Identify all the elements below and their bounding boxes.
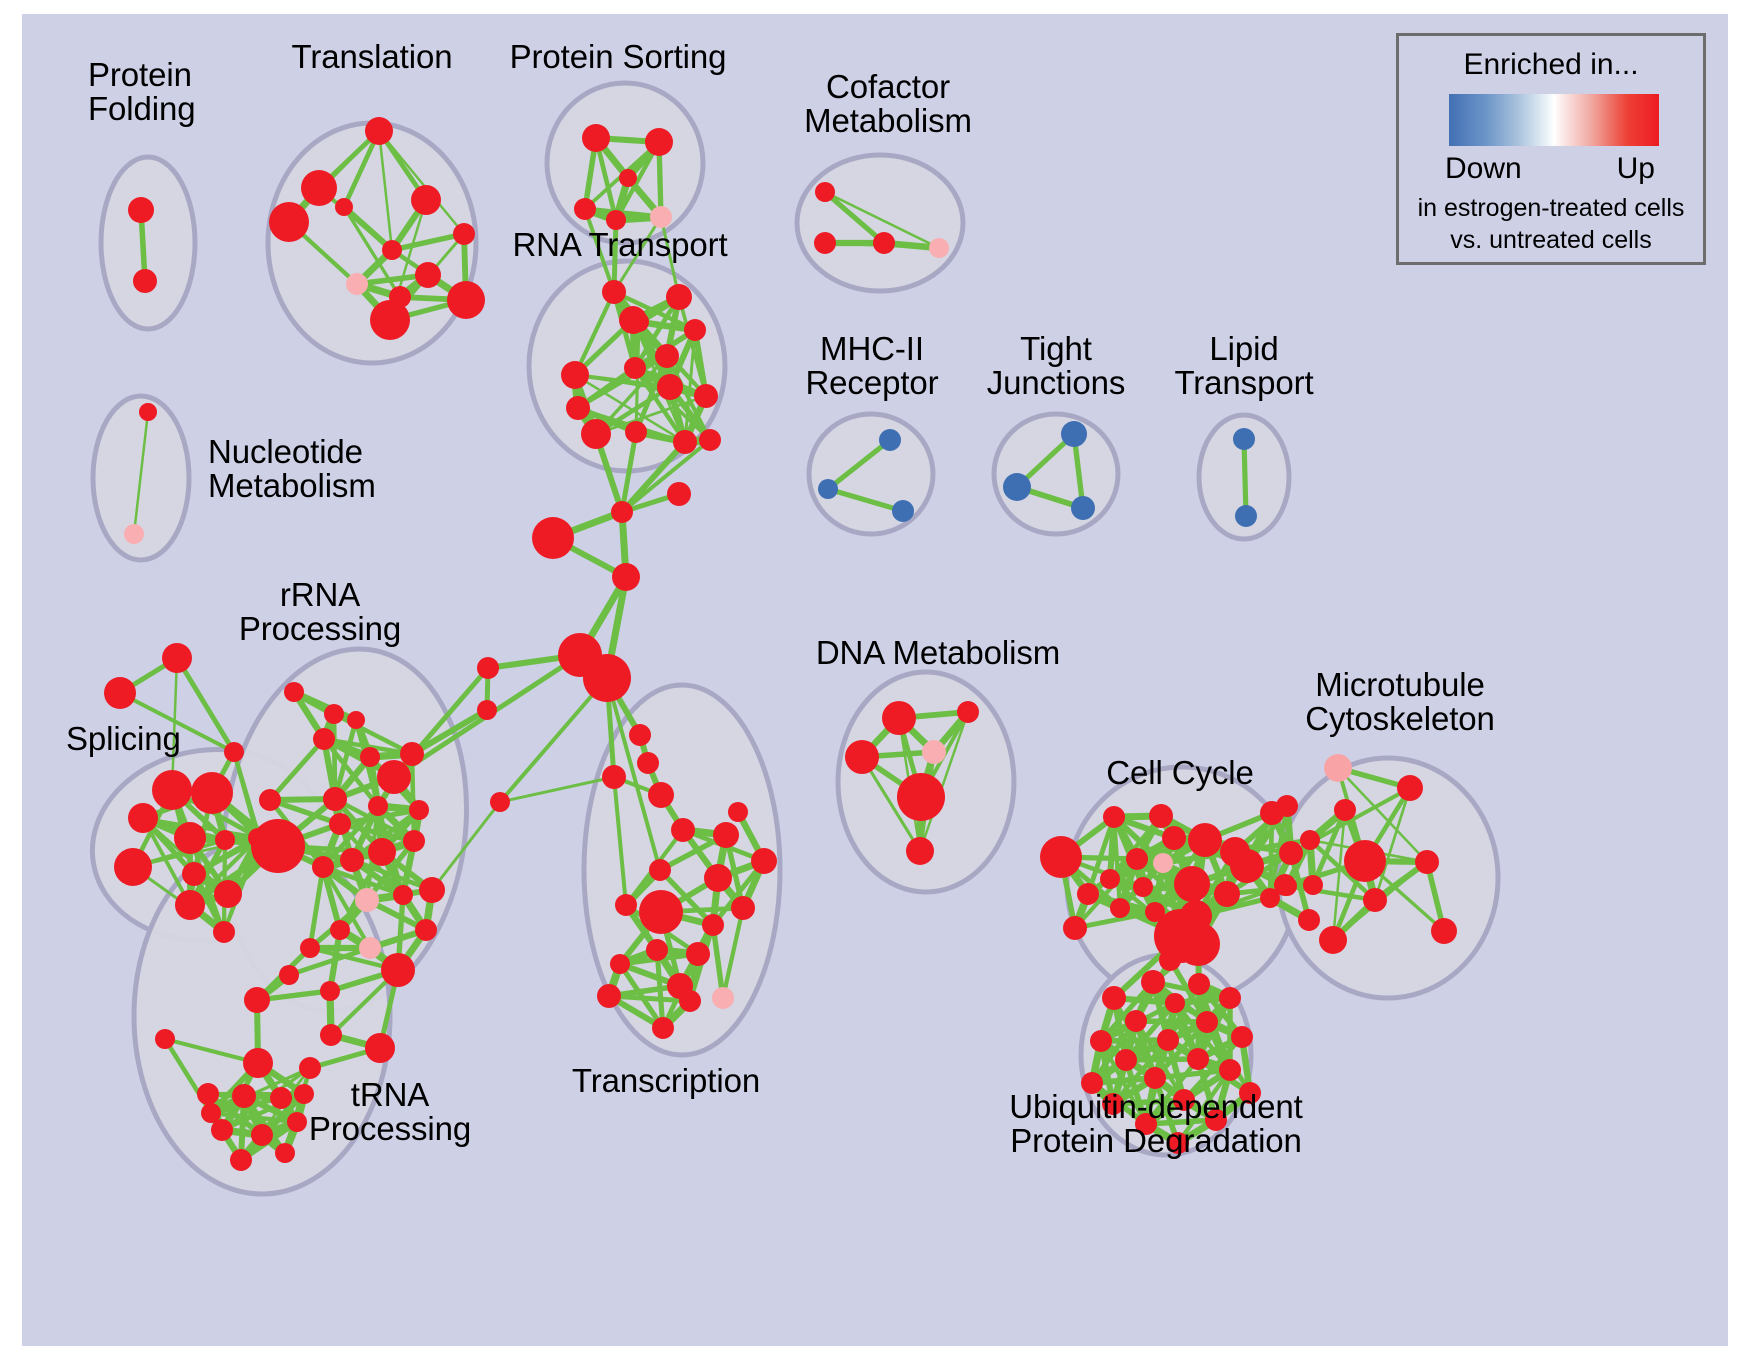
network-node[interactable] xyxy=(1196,1011,1218,1033)
network-edge xyxy=(1244,439,1246,516)
network-node[interactable] xyxy=(655,344,679,368)
network-node[interactable] xyxy=(347,711,365,729)
cluster-label-lipid-transport: LipidTransport xyxy=(1174,332,1313,400)
network-node[interactable] xyxy=(671,818,695,842)
network-node[interactable] xyxy=(162,643,192,673)
network-node[interactable] xyxy=(340,848,364,872)
network-node[interactable] xyxy=(330,920,350,940)
cluster-label-line: Junctions xyxy=(987,366,1126,400)
network-node[interactable] xyxy=(312,856,334,878)
network-node[interactable] xyxy=(191,772,233,814)
network-node[interactable] xyxy=(1110,898,1130,918)
cluster-label-line: RNA Transport xyxy=(512,228,727,262)
network-node[interactable] xyxy=(1324,754,1352,782)
legend-colorbar xyxy=(1449,94,1659,146)
cluster-label-cell-cycle: Cell Cycle xyxy=(1106,756,1254,790)
legend-caption-line1: in estrogen-treated cells xyxy=(1399,194,1703,223)
network-node[interactable] xyxy=(532,517,574,559)
network-node[interactable] xyxy=(731,896,755,920)
cluster-label-line: Protein xyxy=(88,58,196,92)
cluster-hull-protein-folding xyxy=(101,157,195,329)
network-node[interactable] xyxy=(324,704,344,724)
cluster-label-line: Processing xyxy=(239,612,401,646)
network-node[interactable] xyxy=(581,419,611,449)
network-node[interactable] xyxy=(1102,986,1126,1010)
network-node[interactable] xyxy=(377,760,411,794)
network-node[interactable] xyxy=(360,747,380,767)
network-node[interactable] xyxy=(251,819,305,873)
network-node[interactable] xyxy=(657,374,683,400)
cluster-label-line: Metabolism xyxy=(208,469,376,503)
legend-caption-line2: vs. untreated cells xyxy=(1399,226,1703,255)
network-node[interactable] xyxy=(1219,987,1241,1009)
network-node[interactable] xyxy=(873,232,895,254)
cluster-label-line: MHC-II xyxy=(805,332,938,366)
cluster-label-line: Cell Cycle xyxy=(1106,756,1254,790)
network-node[interactable] xyxy=(201,1103,221,1123)
network-node[interactable] xyxy=(704,864,732,892)
network-node[interactable] xyxy=(957,701,979,723)
network-node[interactable] xyxy=(897,773,945,821)
network-node[interactable] xyxy=(879,429,901,451)
network-node[interactable] xyxy=(686,942,710,966)
network-node[interactable] xyxy=(929,238,949,258)
network-node[interactable] xyxy=(287,1112,307,1132)
network-node[interactable] xyxy=(1174,866,1210,902)
network-node[interactable] xyxy=(629,724,651,746)
network-node[interactable] xyxy=(224,742,244,762)
network-node[interactable] xyxy=(751,848,777,874)
network-node[interactable] xyxy=(625,421,647,443)
cluster-label-mhc-ii-receptor: MHC-IIReceptor xyxy=(805,332,938,400)
cluster-label-line: Processing xyxy=(309,1112,471,1146)
cluster-label-rrna-processing: rRNAProcessing xyxy=(239,578,401,646)
network-node[interactable] xyxy=(1397,775,1423,801)
network-node[interactable] xyxy=(419,877,445,903)
cluster-label-rna-transport: RNA Transport xyxy=(512,228,727,262)
network-node[interactable] xyxy=(1149,804,1173,828)
network-node[interactable] xyxy=(1260,801,1284,825)
cluster-label-nucleotide-metabolism: NucleotideMetabolism xyxy=(208,435,376,503)
cluster-label-cofactor-metabolism: CofactorMetabolism xyxy=(804,70,972,138)
network-node[interactable] xyxy=(329,813,351,835)
network-node[interactable] xyxy=(1159,949,1181,971)
network-node[interactable] xyxy=(561,361,589,389)
network-node[interactable] xyxy=(368,838,396,866)
figure-canvas: ProteinFoldingTranslationProtein Sorting… xyxy=(0,0,1750,1360)
network-node[interactable] xyxy=(702,914,724,936)
network-node[interactable] xyxy=(1115,1049,1137,1071)
network-node[interactable] xyxy=(365,117,393,145)
network-node[interactable] xyxy=(152,770,192,810)
cluster-label-line: Nucleotide xyxy=(208,435,376,469)
network-node[interactable] xyxy=(679,990,701,1012)
network-node[interactable] xyxy=(1231,1026,1253,1048)
network-node[interactable] xyxy=(1260,888,1280,908)
network-node[interactable] xyxy=(892,500,914,522)
network-node[interactable] xyxy=(1187,1048,1209,1070)
legend-high-label: Up xyxy=(1617,152,1655,186)
network-node[interactable] xyxy=(582,124,610,152)
cluster-label-line: Cofactor xyxy=(804,70,972,104)
network-node[interactable] xyxy=(382,240,402,260)
network-edge xyxy=(334,714,335,799)
network-node[interactable] xyxy=(393,885,413,905)
cluster-label-line: Transcription xyxy=(572,1064,760,1098)
network-node[interactable] xyxy=(400,742,424,766)
network-node[interactable] xyxy=(477,657,499,679)
network-node[interactable] xyxy=(1235,505,1257,527)
network-node[interactable] xyxy=(1415,850,1439,874)
network-node[interactable] xyxy=(1162,826,1186,850)
network-node[interactable] xyxy=(1214,881,1240,907)
network-node[interactable] xyxy=(313,728,335,750)
network-node[interactable] xyxy=(602,765,626,789)
network-node[interactable] xyxy=(566,396,590,420)
network-node[interactable] xyxy=(299,1057,321,1079)
network-node[interactable] xyxy=(1063,916,1087,940)
network-node[interactable] xyxy=(1141,970,1165,994)
network-node[interactable] xyxy=(637,752,659,774)
network-node[interactable] xyxy=(922,740,946,764)
network-node[interactable] xyxy=(403,830,425,852)
network-node[interactable] xyxy=(1003,473,1031,501)
network-node[interactable] xyxy=(323,787,347,811)
network-node[interactable] xyxy=(370,300,410,340)
network-node[interactable] xyxy=(320,981,340,1001)
network-node[interactable] xyxy=(652,1017,674,1039)
network-node[interactable] xyxy=(346,273,368,295)
network-node[interactable] xyxy=(1431,918,1457,944)
network-node[interactable] xyxy=(684,319,706,341)
network-node[interactable] xyxy=(574,198,596,220)
network-node[interactable] xyxy=(649,859,671,881)
network-node[interactable] xyxy=(214,880,242,908)
network-node[interactable] xyxy=(301,170,337,206)
network-node[interactable] xyxy=(139,403,157,421)
network-node[interactable] xyxy=(415,262,441,288)
network-node[interactable] xyxy=(1090,1030,1112,1052)
cluster-label-protein-sorting: Protein Sorting xyxy=(510,40,727,74)
network-node[interactable] xyxy=(650,206,672,228)
network-node[interactable] xyxy=(355,888,379,912)
network-node[interactable] xyxy=(1344,840,1386,882)
network-node[interactable] xyxy=(845,740,879,774)
network-node[interactable] xyxy=(415,919,437,941)
network-node[interactable] xyxy=(182,862,206,886)
legend-box: Enriched in... Down Up in estrogen-treat… xyxy=(1396,33,1706,265)
network-node[interactable] xyxy=(818,479,838,499)
network-node[interactable] xyxy=(1300,830,1320,850)
network-node[interactable] xyxy=(1126,848,1148,870)
network-node[interactable] xyxy=(615,894,637,916)
network-node[interactable] xyxy=(409,800,429,820)
cluster-label-protein-folding: ProteinFolding xyxy=(88,58,196,126)
cluster-label-line: Receptor xyxy=(805,366,938,400)
network-node[interactable] xyxy=(477,700,497,720)
cluster-label-splicing: Splicing xyxy=(66,722,181,756)
network-node[interactable] xyxy=(359,937,381,959)
cluster-label-line: Protein Sorting xyxy=(510,40,727,74)
cluster-label-ubiquitin-degradation: Ubiquitin-dependentProtein Degradation xyxy=(1009,1090,1303,1158)
network-node[interactable] xyxy=(612,563,640,591)
network-node[interactable] xyxy=(1061,421,1087,447)
network-node[interactable] xyxy=(244,987,270,1013)
network-node[interactable] xyxy=(1230,849,1264,883)
network-node[interactable] xyxy=(648,782,674,808)
network-node[interactable] xyxy=(597,984,621,1008)
cluster-label-line: rRNA xyxy=(239,578,401,612)
network-node[interactable] xyxy=(814,232,836,254)
network-node[interactable] xyxy=(713,822,739,848)
cluster-label-tight-junctions: TightJunctions xyxy=(987,332,1126,400)
cluster-hull-mhc-ii-receptor xyxy=(809,414,933,534)
network-node[interactable] xyxy=(1188,973,1210,995)
network-node[interactable] xyxy=(365,1033,395,1063)
network-node[interactable] xyxy=(1334,799,1356,821)
cluster-label-dna-metabolism: DNA Metabolism xyxy=(816,636,1060,670)
network-node[interactable] xyxy=(728,802,748,822)
network-node[interactable] xyxy=(1363,888,1387,912)
cluster-label-line: Microtubule xyxy=(1305,668,1495,702)
network-node[interactable] xyxy=(906,837,934,865)
network-node[interactable] xyxy=(1100,869,1120,889)
network-node[interactable] xyxy=(629,312,649,332)
network-node[interactable] xyxy=(320,1024,342,1046)
network-node[interactable] xyxy=(1279,841,1303,865)
network-node[interactable] xyxy=(243,1048,273,1078)
network-node[interactable] xyxy=(712,987,734,1009)
network-node[interactable] xyxy=(335,198,353,216)
network-node[interactable] xyxy=(1144,1067,1166,1089)
network-node[interactable] xyxy=(215,830,235,850)
network-node[interactable] xyxy=(1277,876,1297,896)
network-node[interactable] xyxy=(667,482,691,506)
network-node[interactable] xyxy=(815,182,835,202)
network-node[interactable] xyxy=(1303,875,1323,895)
network-node[interactable] xyxy=(1188,823,1222,857)
network-node[interactable] xyxy=(639,890,683,934)
network-node[interactable] xyxy=(694,384,718,408)
network-node[interactable] xyxy=(1219,1059,1241,1081)
network-node[interactable] xyxy=(213,921,235,943)
network-node[interactable] xyxy=(619,169,637,187)
cluster-label-transcription: Transcription xyxy=(572,1064,760,1098)
network-node[interactable] xyxy=(453,223,475,245)
legend-low-label: Down xyxy=(1445,152,1522,186)
network-node[interactable] xyxy=(699,429,721,451)
network-node[interactable] xyxy=(1133,877,1153,897)
cluster-label-line: Folding xyxy=(88,92,196,126)
cluster-label-translation: Translation xyxy=(292,40,453,74)
cluster-label-line: Metabolism xyxy=(804,104,972,138)
network-node[interactable] xyxy=(381,953,415,987)
network-node[interactable] xyxy=(1176,922,1220,966)
network-node[interactable] xyxy=(1040,836,1082,878)
network-node[interactable] xyxy=(1071,496,1095,520)
network-node[interactable] xyxy=(368,796,388,816)
network-node[interactable] xyxy=(624,357,646,379)
network-node[interactable] xyxy=(583,654,631,702)
network-node[interactable] xyxy=(175,890,205,920)
cluster-label-line: Cytoskeleton xyxy=(1305,702,1495,736)
network-node[interactable] xyxy=(646,939,668,961)
network-node[interactable] xyxy=(133,269,157,293)
network-node[interactable] xyxy=(411,185,441,215)
cluster-label-line: Lipid xyxy=(1174,332,1313,366)
cluster-hull-cofactor-metabolism xyxy=(797,155,963,291)
cluster-label-line: Ubiquitin-dependent xyxy=(1009,1090,1303,1124)
network-node[interactable] xyxy=(124,524,144,544)
network-node[interactable] xyxy=(1153,853,1173,873)
network-node[interactable] xyxy=(300,938,320,958)
network-node[interactable] xyxy=(1298,909,1320,931)
legend-title: Enriched in... xyxy=(1399,48,1703,82)
cluster-label-line: Translation xyxy=(292,40,453,74)
network-node[interactable] xyxy=(1077,883,1099,905)
cluster-label-trna-processing: tRNAProcessing xyxy=(309,1078,471,1146)
network-node[interactable] xyxy=(128,803,158,833)
network-node[interactable] xyxy=(275,1143,295,1163)
network-node[interactable] xyxy=(447,281,485,319)
network-node[interactable] xyxy=(279,965,299,985)
cluster-label-line: Splicing xyxy=(66,722,181,756)
cluster-label-microtubule-cytoskeleton: MicrotubuleCytoskeleton xyxy=(1305,668,1495,736)
network-node[interactable] xyxy=(104,677,136,709)
network-node[interactable] xyxy=(259,789,281,811)
network-node[interactable] xyxy=(128,197,154,223)
network-node[interactable] xyxy=(602,280,626,304)
network-node[interactable] xyxy=(155,1029,175,1049)
network-node[interactable] xyxy=(666,284,692,310)
network-node[interactable] xyxy=(269,202,309,242)
network-node[interactable] xyxy=(1157,1029,1179,1051)
network-node[interactable] xyxy=(1165,993,1185,1013)
cluster-label-line: Tight xyxy=(987,332,1126,366)
network-node[interactable] xyxy=(270,1087,292,1109)
network-node[interactable] xyxy=(1125,1010,1147,1032)
cluster-label-line: Protein Degradation xyxy=(1009,1124,1303,1158)
network-node[interactable] xyxy=(114,848,152,886)
network-node[interactable] xyxy=(882,701,916,735)
network-node[interactable] xyxy=(197,1083,219,1105)
network-node[interactable] xyxy=(1319,926,1347,954)
network-node[interactable] xyxy=(232,1084,256,1108)
cluster-label-line: DNA Metabolism xyxy=(816,636,1060,670)
network-node[interactable] xyxy=(645,128,673,156)
network-node[interactable] xyxy=(611,501,633,523)
network-node[interactable] xyxy=(673,430,697,454)
network-node[interactable] xyxy=(1103,806,1125,828)
cluster-label-line: Transport xyxy=(1174,366,1313,400)
network-node[interactable] xyxy=(1233,428,1255,450)
network-node[interactable] xyxy=(490,792,510,812)
network-node[interactable] xyxy=(610,954,630,974)
network-node[interactable] xyxy=(284,682,304,702)
network-node[interactable] xyxy=(230,1149,252,1171)
cluster-label-line: tRNA xyxy=(309,1078,471,1112)
network-node[interactable] xyxy=(174,822,206,854)
network-node[interactable] xyxy=(251,1124,273,1146)
